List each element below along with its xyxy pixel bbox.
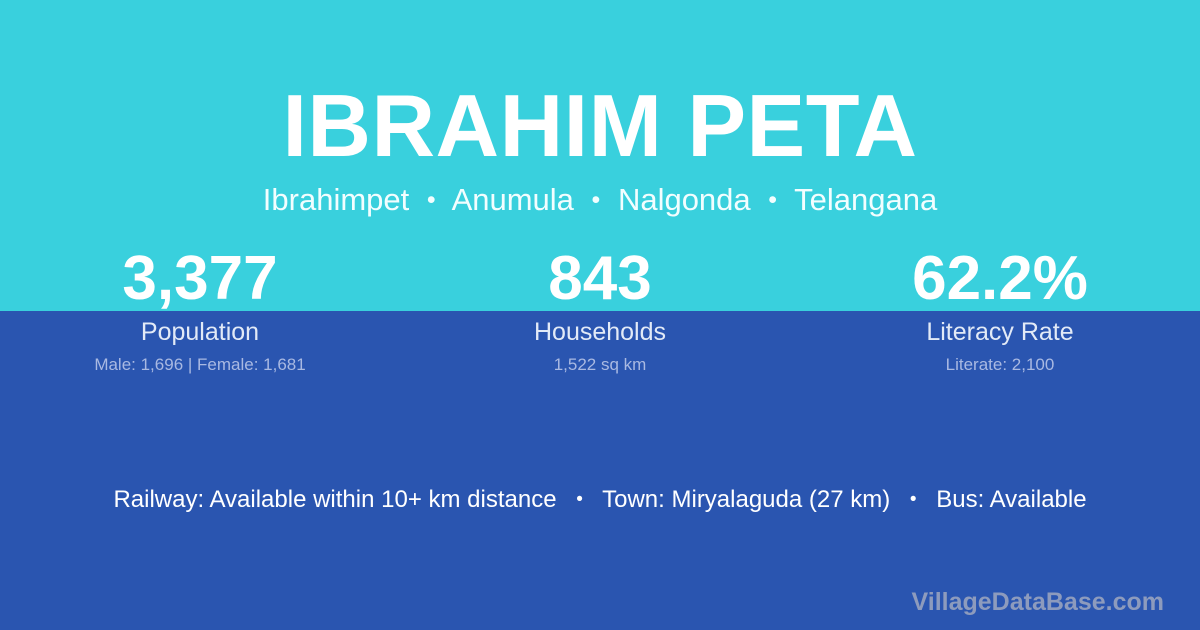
site-brand: VillageDataBase.com: [912, 587, 1164, 617]
bullet-icon: •: [583, 181, 610, 219]
breadcrumb-item-mandal: Anumula: [452, 182, 574, 217]
breadcrumb-item-state: Telangana: [794, 182, 937, 217]
stat-value: 3,377: [0, 247, 400, 311]
stat-label: Households: [400, 317, 800, 347]
info-item-railway: Railway: Available within 10+ km distanc…: [113, 486, 556, 513]
village-info-card: IBRAHIM PETA Ibrahimpet • Anumula • Nalg…: [0, 0, 1200, 630]
bullet-icon: •: [897, 484, 930, 516]
stat-sublabel: 1,522 sq km: [400, 354, 800, 376]
stat-value: 843: [400, 247, 800, 311]
bullet-icon: •: [759, 181, 786, 219]
stats-row: 3,377 Population Male: 1,696 | Female: 1…: [0, 247, 1200, 376]
info-item-bus: Bus: Available: [936, 486, 1086, 513]
stat-sublabel: Male: 1,696 | Female: 1,681: [0, 354, 400, 376]
bullet-icon: •: [418, 181, 445, 219]
breadcrumb-item-village: Ibrahimpet: [263, 182, 409, 217]
bullet-icon: •: [563, 484, 596, 516]
stat-population: 3,377 Population Male: 1,696 | Female: 1…: [0, 247, 400, 376]
stat-households: 843 Households 1,522 sq km: [400, 247, 800, 376]
page-title: IBRAHIM PETA: [0, 78, 1200, 174]
stat-sublabel: Literate: 2,100: [800, 354, 1200, 376]
info-item-town: Town: Miryalaguda (27 km): [602, 486, 890, 513]
stat-label: Literacy Rate: [800, 317, 1200, 347]
facilities-info-line: Railway: Available within 10+ km distanc…: [0, 484, 1200, 516]
breadcrumb: Ibrahimpet • Anumula • Nalgonda • Telang…: [0, 181, 1200, 219]
breadcrumb-item-district: Nalgonda: [618, 182, 751, 217]
stat-label: Population: [0, 317, 400, 347]
stat-literacy-rate: 62.2% Literacy Rate Literate: 2,100: [800, 247, 1200, 376]
stat-value: 62.2%: [800, 247, 1200, 311]
